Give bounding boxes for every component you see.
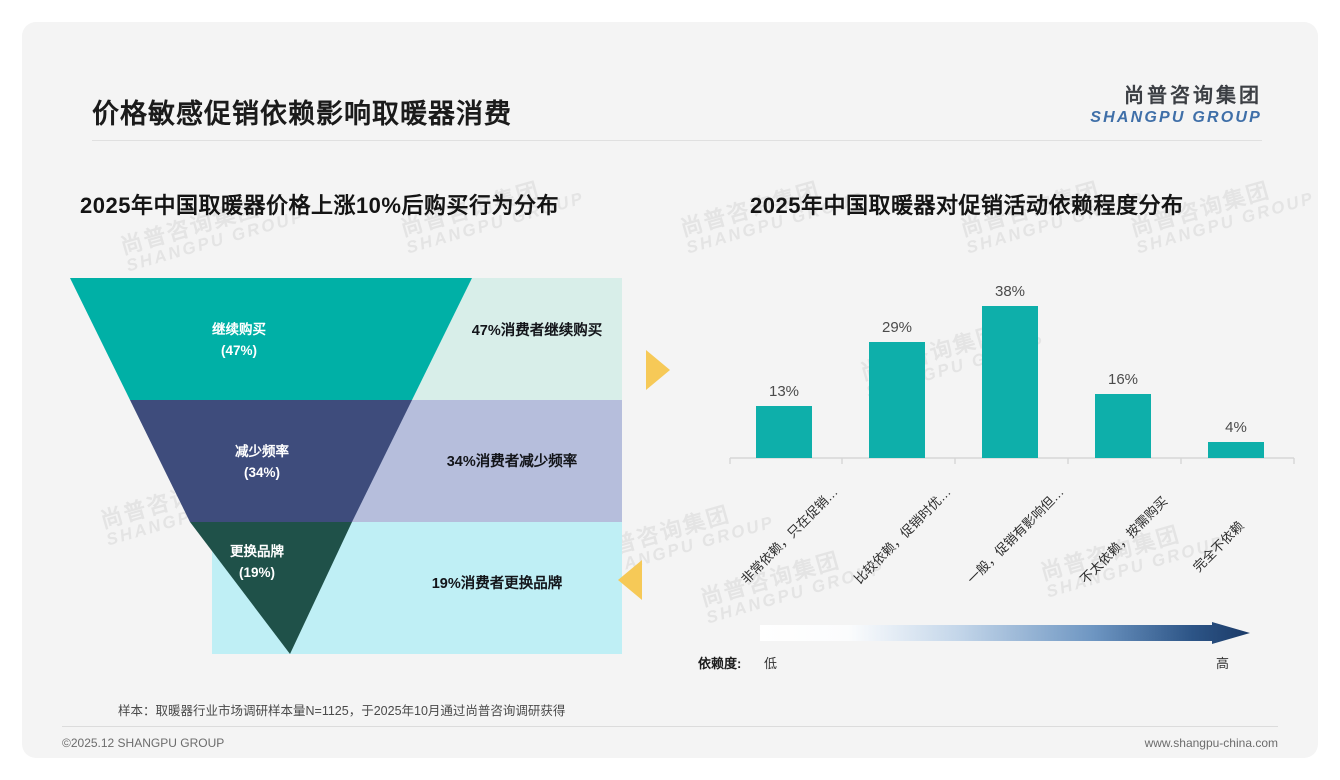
- funnel-segment-value-2: (19%): [239, 565, 275, 580]
- bar-category-4: 完全不依赖: [1188, 516, 1247, 575]
- funnel-chart: 继续购买 (47%) 减少频率 (34%) 更换品牌 (19%) 47%消费者继…: [62, 272, 682, 672]
- page-title: 价格敏感促销依赖影响取暖器消费: [92, 92, 512, 131]
- bar-value-label-0: 13%: [769, 383, 799, 400]
- bar-category-0: 非常依赖，只在促销…: [736, 482, 841, 587]
- funnel-note-0: 47%消费者继续购买: [472, 321, 603, 339]
- header-divider: [92, 140, 1262, 141]
- funnel-segment-value-1: (34%): [244, 465, 280, 480]
- logo-chinese-name: 尚普咨询集团: [1090, 84, 1262, 108]
- bar-value-label-3: 16%: [1108, 371, 1138, 388]
- footer-divider: [62, 726, 1278, 727]
- bar-value-label-4: 4%: [1225, 419, 1247, 436]
- funnel-note-2: 19%消费者更换品牌: [432, 574, 563, 592]
- dependence-bar-chart: 13% 29% 38% 16% 4%: [722, 272, 1302, 472]
- slide-canvas: 尚普咨询集团SHANGPU GROUP 尚普咨询集团SHANGPU GROUP …: [22, 22, 1318, 758]
- bar-4[interactable]: [1208, 442, 1264, 458]
- bar-1[interactable]: [869, 342, 925, 458]
- bar-3[interactable]: [1095, 394, 1151, 458]
- brand-logo: 尚普咨询集团 SHANGPU GROUP: [1090, 84, 1262, 127]
- bar-category-2: 一般，促销有影响但…: [962, 482, 1067, 587]
- legend-gradient-arrow: [760, 622, 1250, 644]
- footer-website[interactable]: www.shangpu-china.com: [1145, 736, 1278, 750]
- logo-english-name: SHANGPU GROUP: [1090, 108, 1262, 127]
- funnel-segment-label-2: 更换品牌: [230, 543, 284, 559]
- bar-value-label-1: 29%: [882, 319, 912, 336]
- bar-value-label-2: 38%: [995, 283, 1025, 300]
- slide-header: 价格敏感促销依赖影响取暖器消费 尚普咨询集团 SHANGPU GROUP: [22, 22, 1318, 144]
- funnel-note-1: 34%消费者减少频率: [447, 452, 578, 470]
- legend-caption: 依赖度:: [698, 653, 741, 672]
- funnel-segment-label-0: 继续购买: [212, 321, 266, 337]
- bar-category-3: 不太依赖，按需购买: [1075, 491, 1171, 587]
- source-footnote: 样本：取暖器行业市场调研样本量N=1125，于2025年10月通过尚普咨询调研获…: [118, 700, 565, 719]
- funnel-segment-label-1: 减少频率: [235, 443, 289, 459]
- dependence-legend: 依赖度: 低 高: [698, 622, 1288, 682]
- left-chart-title: 2025年中国取暖器价格上涨10%后购买行为分布: [80, 188, 559, 220]
- footer-copyright: ©2025.12 SHANGPU GROUP: [62, 736, 224, 750]
- bar-category-labels: 非常依赖，只在促销… 比较依赖，促销时优… 一般，促销有影响但… 不太依赖，按需…: [722, 462, 1302, 612]
- bar-category-1: 比较依赖，促销时优…: [849, 482, 954, 587]
- bar-0[interactable]: [756, 406, 812, 458]
- bar-2[interactable]: [982, 306, 1038, 458]
- legend-low-label: 低: [764, 653, 777, 672]
- right-chart-title: 2025年中国取暖器对促销活动依赖程度分布: [750, 188, 1183, 220]
- funnel-segment-0[interactable]: [70, 278, 472, 400]
- triangle-right-icon: [646, 350, 670, 390]
- legend-high-label: 高: [1216, 653, 1229, 672]
- funnel-segment-value-0: (47%): [221, 343, 257, 358]
